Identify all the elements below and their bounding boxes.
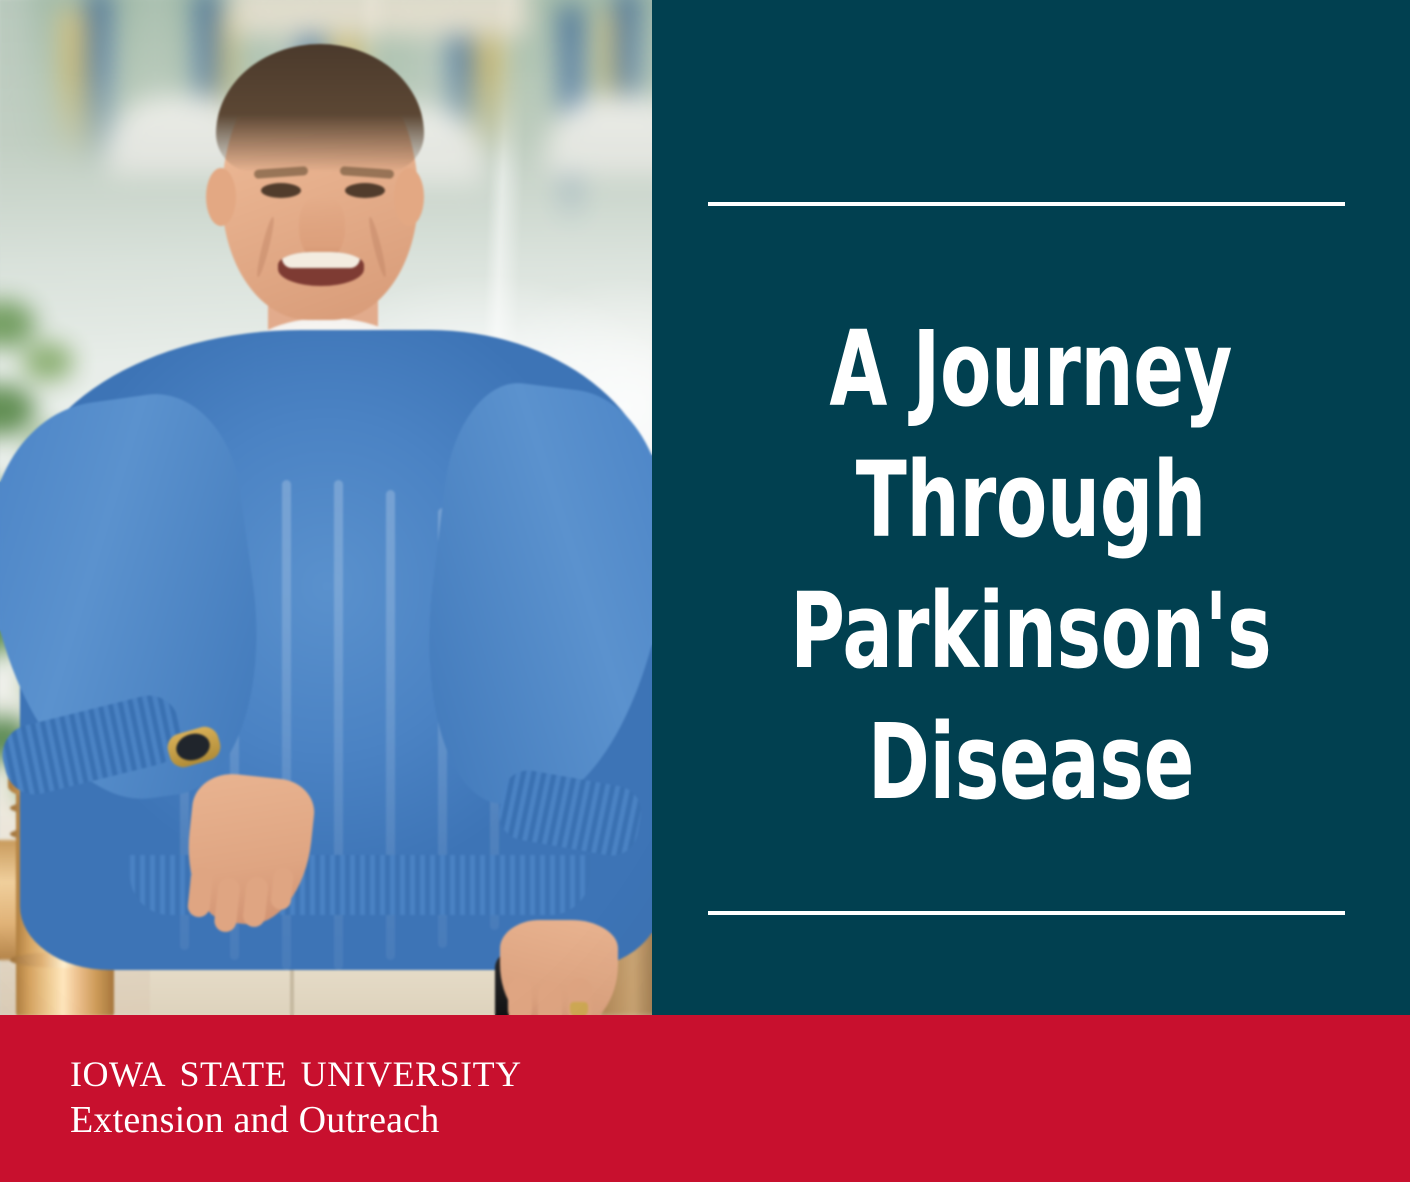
eye-left	[261, 183, 301, 198]
eye-right	[345, 183, 385, 198]
divider-rule-bottom	[708, 911, 1345, 915]
isu-logo-primary: Iowa State University	[70, 1043, 522, 1097]
ear-right	[394, 168, 424, 226]
page-title: A Journey Through Parkinson's Disease	[692, 236, 1370, 896]
isu-extension-logo: Iowa State University Extension and Outr…	[70, 1043, 522, 1142]
title-line-2: Through	[856, 435, 1206, 566]
hero-photo	[0, 0, 652, 1015]
teeth	[282, 252, 360, 268]
title-line-1: A Journey	[830, 304, 1233, 435]
wedding-ring	[570, 1002, 588, 1015]
right-hand	[500, 920, 618, 1015]
isu-logo-secondary: Extension and Outreach	[70, 1099, 522, 1142]
title-line-3: Parkinson's	[790, 566, 1271, 697]
poster-canvas: A Journey Through Parkinson's Disease Io…	[0, 0, 1410, 1182]
title-panel: A Journey Through Parkinson's Disease	[652, 0, 1410, 1015]
person-figure	[0, 0, 652, 1015]
footer-brand-bar: Iowa State University Extension and Outr…	[0, 1015, 1410, 1182]
hair	[216, 44, 424, 172]
ear-left	[206, 168, 236, 226]
title-line-4: Disease	[868, 697, 1194, 828]
smiling-mouth	[278, 252, 364, 286]
divider-rule-top	[708, 202, 1345, 206]
